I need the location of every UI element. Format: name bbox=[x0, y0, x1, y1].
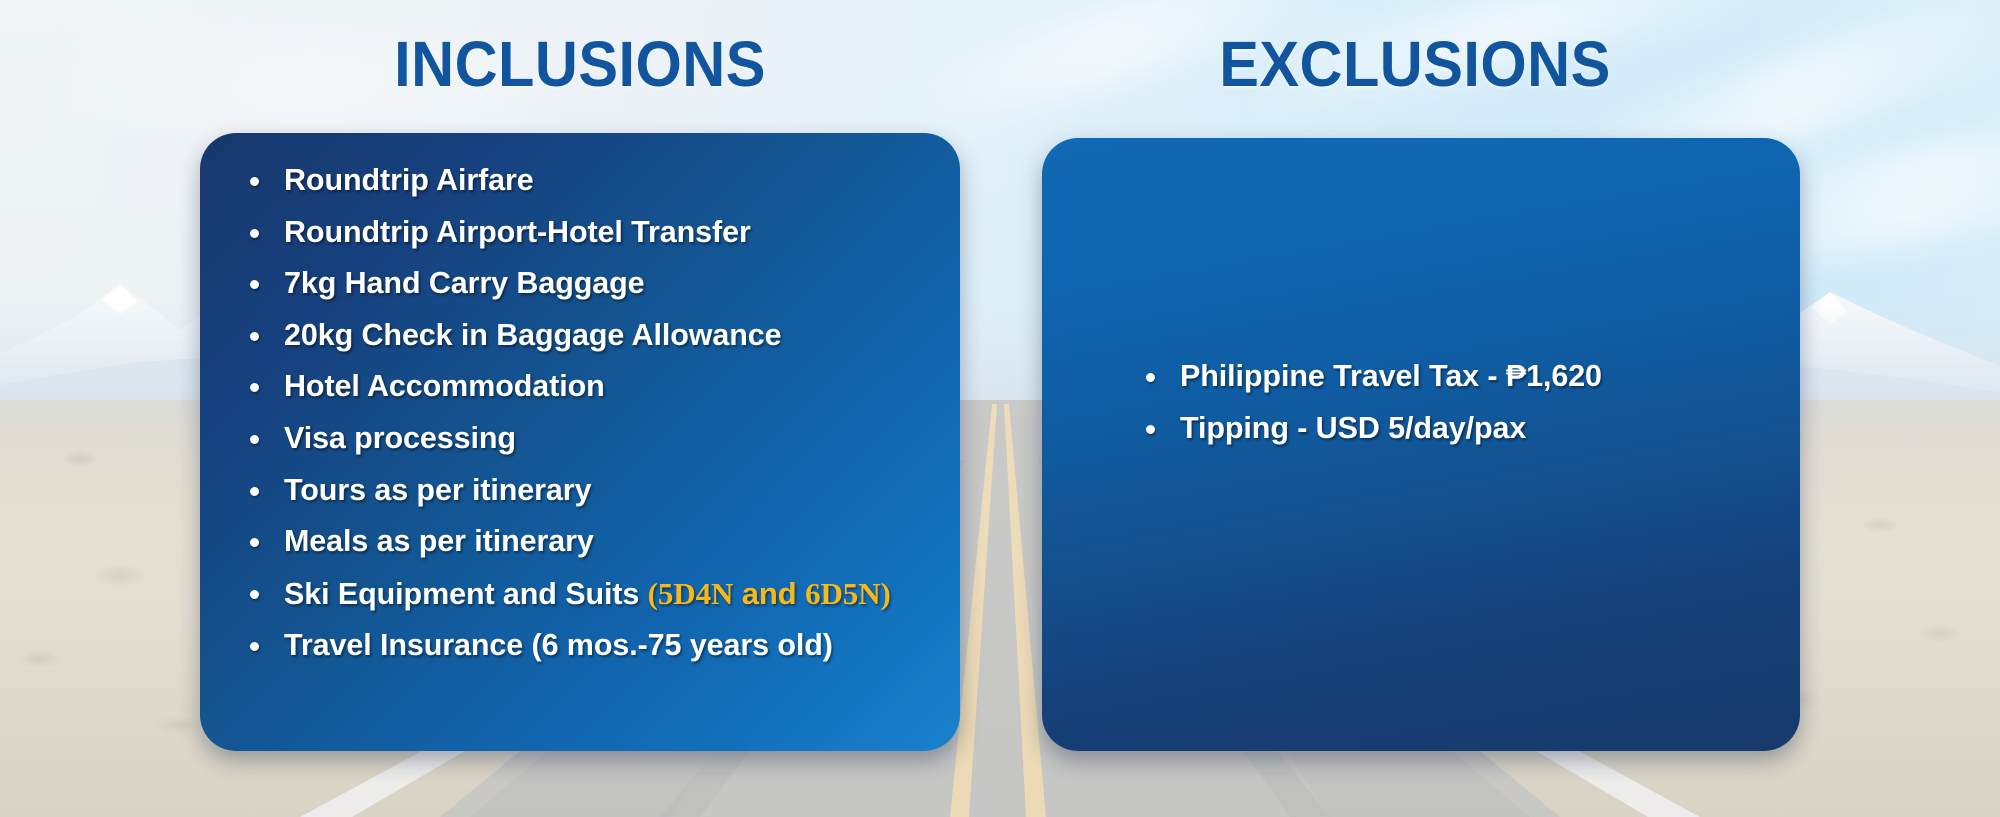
inclusion-item-label: Travel Insurance (6 mos.-75 years old) bbox=[284, 628, 833, 662]
inclusion-item: Tours as per itinerary bbox=[248, 465, 948, 517]
inclusion-item-label: Roundtrip Airfare bbox=[284, 163, 534, 197]
inclusion-item: Visa processing bbox=[248, 413, 948, 465]
inclusion-item-label: Hotel Accommodation bbox=[284, 369, 605, 403]
inclusion-item: Travel Insurance (6 mos.-75 years old) bbox=[248, 620, 948, 672]
exclusion-item: Philippine Travel Tax - ₱1,620 bbox=[1144, 351, 1844, 403]
inclusion-item: 20kg Check in Baggage Allowance bbox=[248, 310, 948, 362]
inclusion-item: Meals as per itinerary bbox=[248, 516, 948, 568]
inclusion-item-label: 7kg Hand Carry Baggage bbox=[284, 266, 645, 300]
inclusions-list: Roundtrip AirfareRoundtrip Airport-Hotel… bbox=[248, 155, 948, 672]
inclusion-item-label: 20kg Check in Baggage Allowance bbox=[284, 318, 782, 352]
inclusion-item: 7kg Hand Carry Baggage bbox=[248, 258, 948, 310]
exclusion-item-label: Philippine Travel Tax - ₱1,620 bbox=[1180, 359, 1602, 393]
slide-canvas: INCLUSIONS EXCLUSIONS Roundtrip AirfareR… bbox=[0, 0, 2000, 817]
exclusions-card: Philippine Travel Tax - ₱1,620Tipping - … bbox=[1042, 138, 1800, 751]
exclusion-item: Tipping - USD 5/day/pax bbox=[1144, 403, 1844, 455]
inclusion-item-label: Meals as per itinerary bbox=[284, 524, 594, 558]
inclusion-item: Hotel Accommodation bbox=[248, 361, 948, 413]
inclusions-card: Roundtrip AirfareRoundtrip Airport-Hotel… bbox=[200, 133, 960, 751]
inclusion-item-label: Roundtrip Airport-Hotel Transfer bbox=[284, 215, 751, 249]
inclusion-item-label: Visa processing bbox=[284, 421, 516, 455]
exclusions-list: Philippine Travel Tax - ₱1,620Tipping - … bbox=[1144, 351, 1844, 454]
exclusion-item-label: Tipping - USD 5/day/pax bbox=[1180, 411, 1526, 445]
slide-content: INCLUSIONS EXCLUSIONS Roundtrip AirfareR… bbox=[0, 0, 2000, 817]
inclusion-item: Roundtrip Airfare bbox=[248, 155, 948, 207]
page-title-inclusions: INCLUSIONS bbox=[227, 27, 934, 101]
inclusion-item-highlight: (5D4N and 6D5N) bbox=[648, 576, 891, 611]
inclusion-item-label: Tours as per itinerary bbox=[284, 473, 591, 507]
inclusion-item: Ski Equipment and Suits (5D4N and 6D5N) bbox=[248, 568, 948, 621]
inclusion-item-label: Ski Equipment and Suits bbox=[284, 577, 648, 611]
inclusion-item: Roundtrip Airport-Hotel Transfer bbox=[248, 207, 948, 259]
page-title-exclusions: EXCLUSIONS bbox=[1057, 27, 1773, 101]
